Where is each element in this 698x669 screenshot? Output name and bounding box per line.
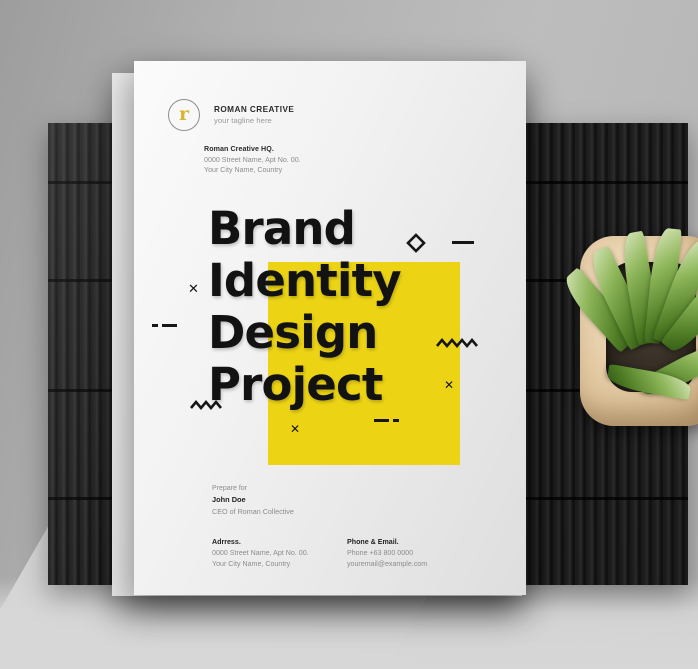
prepared-for-role: CEO of Roman Collective bbox=[212, 507, 294, 516]
dash-short bbox=[393, 419, 399, 422]
dash-long bbox=[162, 324, 177, 327]
logo-letter: r bbox=[179, 105, 189, 124]
mockup-scene: r ROMAN CREATIVE your tagline here Roman… bbox=[0, 0, 698, 669]
cover-footer: Adrress. 0000 Street Name, Apt No. 00. Y… bbox=[212, 538, 502, 568]
footer-contact-heading: Phone & Email. bbox=[347, 538, 482, 546]
footer-address-line1: 0000 Street Name, Apt No. 00. bbox=[212, 549, 347, 557]
company-address-line2: Your City Name, Country bbox=[204, 166, 301, 174]
dash-long bbox=[374, 419, 389, 422]
title-line-4: Project bbox=[208, 359, 528, 411]
footer-contact-phone: Phone +63 800 0000 bbox=[347, 549, 482, 557]
dash-mark-left-icon bbox=[152, 324, 177, 327]
footer-address-column: Adrress. 0000 Street Name, Apt No. 00. Y… bbox=[212, 538, 347, 568]
logo-lockup: r ROMAN CREATIVE your tagline here bbox=[168, 99, 294, 131]
x-mark-right-icon: ✕ bbox=[444, 379, 454, 391]
brochure-cover: r ROMAN CREATIVE your tagline here Roman… bbox=[134, 61, 526, 595]
title-line-1: Brand bbox=[208, 203, 528, 255]
footer-contact-column: Phone & Email. Phone +63 800 0000 yourem… bbox=[347, 538, 482, 568]
brand-name: ROMAN CREATIVE bbox=[214, 105, 294, 114]
company-address-line1: 0000 Street Name, Apt No. 00. bbox=[204, 156, 301, 164]
footer-address-heading: Adrress. bbox=[212, 538, 347, 546]
dash-mark-top-right-icon bbox=[452, 241, 474, 244]
potted-plant bbox=[572, 228, 698, 433]
company-address-heading: Roman Creative HQ. bbox=[204, 145, 301, 153]
cover-title: Brand Identity Design Project bbox=[208, 203, 528, 411]
title-line-2: Identity bbox=[208, 255, 528, 307]
brand-tagline: your tagline here bbox=[214, 116, 294, 125]
x-mark-icon: ✕ bbox=[188, 283, 199, 296]
dash-short bbox=[152, 324, 158, 327]
footer-contact-email: youremail@example.com bbox=[347, 560, 482, 568]
prepared-for-label: Prepare for bbox=[212, 485, 294, 492]
company-address: Roman Creative HQ. 0000 Street Name, Apt… bbox=[204, 145, 301, 174]
wave-mark-left-icon bbox=[190, 399, 226, 418]
logo-mark: r bbox=[168, 99, 200, 131]
title-line-3: Design bbox=[208, 307, 528, 359]
dash-mark-on-accent-icon bbox=[374, 419, 399, 422]
footer-address-line2: Your City Name, Country bbox=[212, 560, 347, 568]
prepared-for-block: Prepare for John Doe CEO of Roman Collec… bbox=[212, 485, 294, 516]
diamond-mark-icon bbox=[406, 233, 426, 258]
x-mark-on-accent-icon: ✕ bbox=[290, 423, 300, 435]
brand-text: ROMAN CREATIVE your tagline here bbox=[214, 105, 294, 126]
prepared-for-name: John Doe bbox=[212, 495, 294, 504]
wave-mark-right-icon bbox=[436, 337, 478, 356]
